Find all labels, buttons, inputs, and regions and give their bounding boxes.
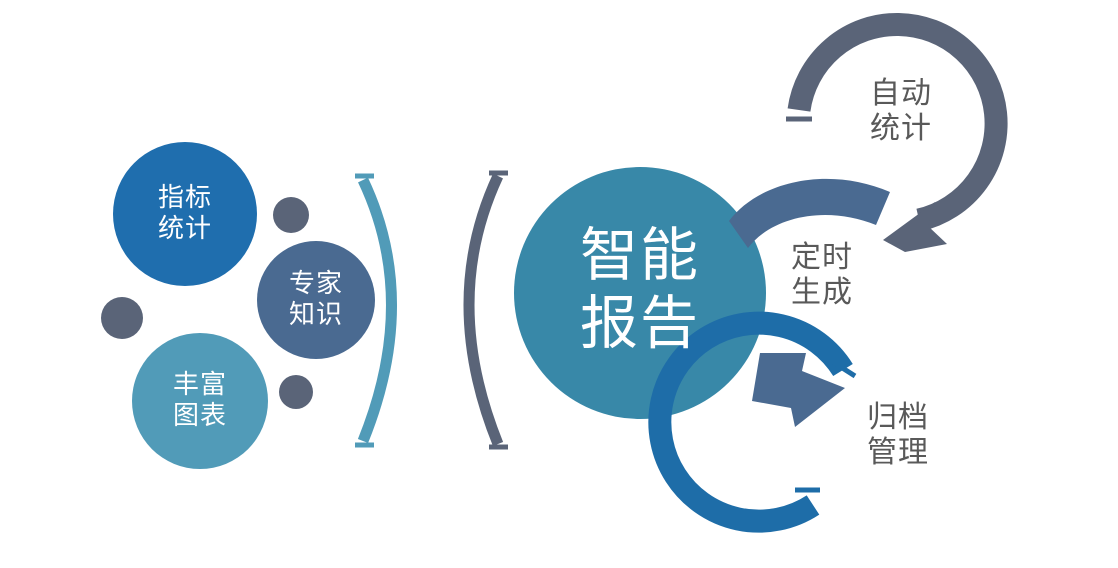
diagram-canvas: 指标 统计 专家 知识 丰富 图表 智能 报告 自动 统计 归档 管理 定时 生…	[0, 0, 1118, 568]
accent-dot-bottom	[279, 375, 313, 409]
accent-dot-left	[101, 297, 143, 339]
bubble-metrics[interactable]	[113, 142, 257, 286]
center-node-circle[interactable]	[514, 167, 766, 419]
bubble-expert[interactable]	[257, 241, 375, 359]
accent-dot-top	[273, 197, 309, 233]
bubble-charts[interactable]	[132, 333, 268, 469]
diagram-vector-layer	[0, 0, 1118, 568]
bracket-right-arc-icon	[469, 176, 498, 444]
connector-arc-arrow-up-icon	[729, 179, 890, 248]
